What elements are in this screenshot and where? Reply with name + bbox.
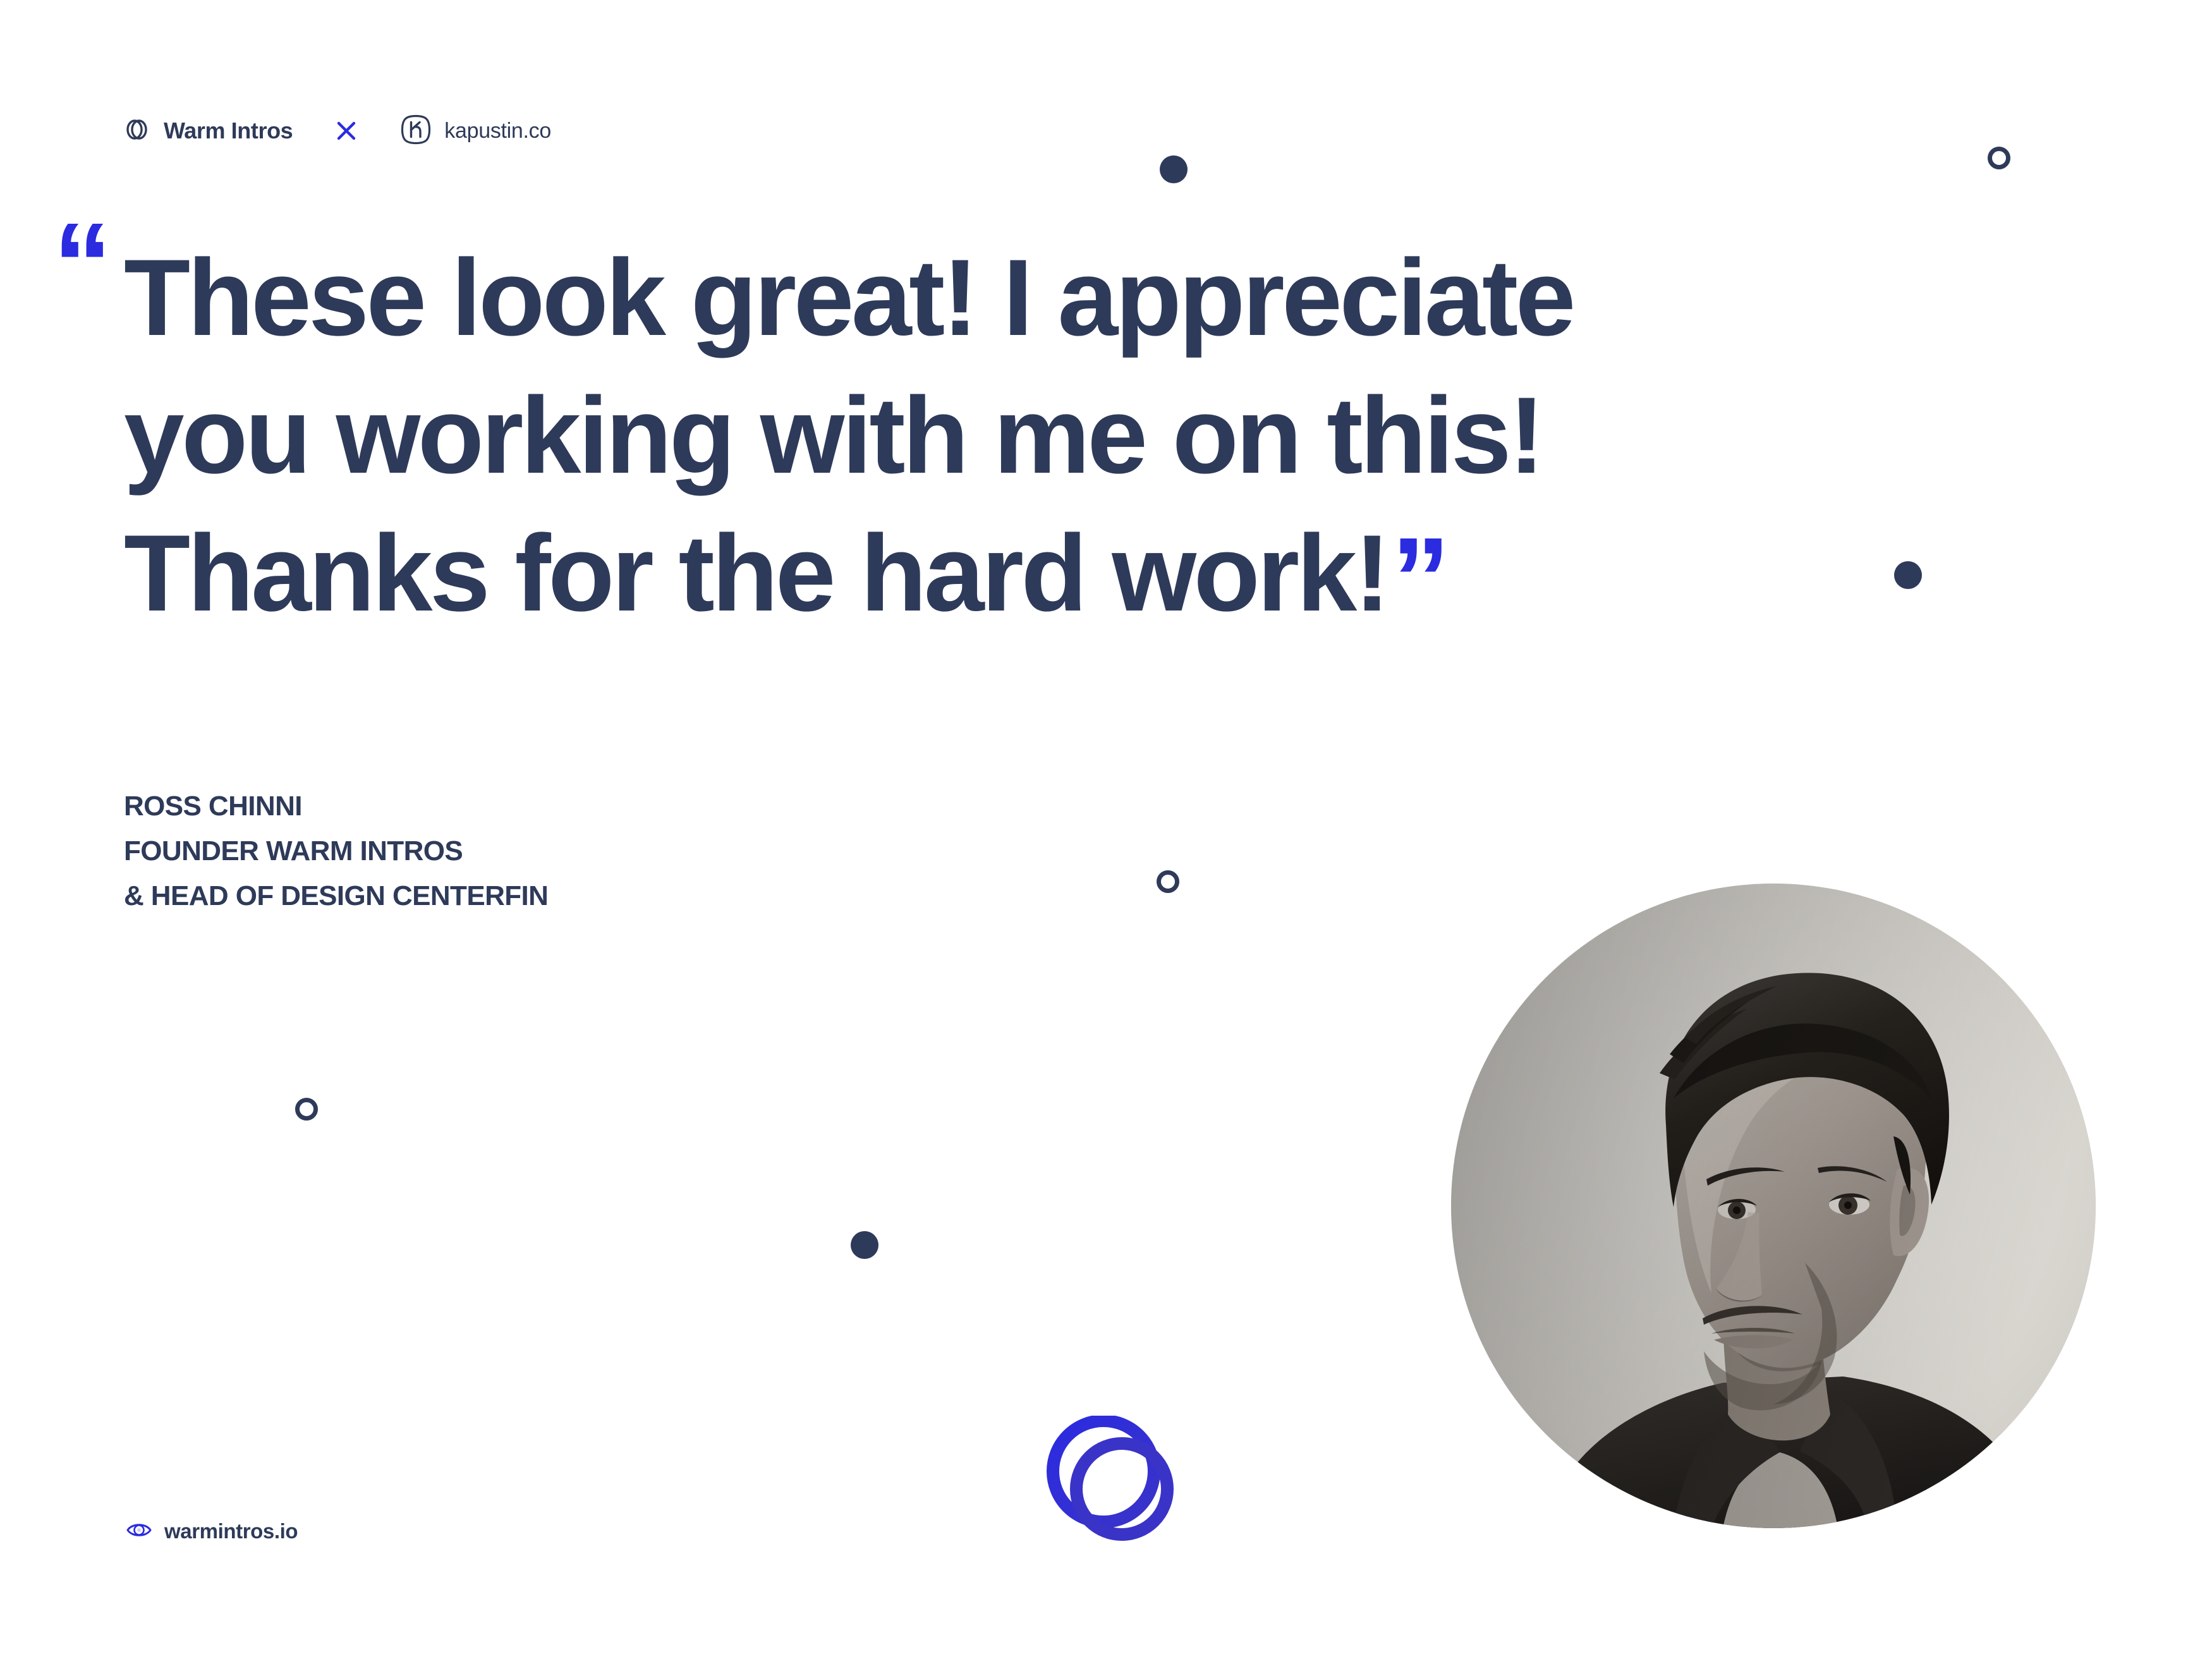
attribution-role-secondary: & HEAD OF DESIGN CENTERFIN [124, 873, 548, 918]
brand-separator-x-icon [336, 120, 357, 142]
quote-attribution: ROSS CHINNI FOUNDER WARM INTROS & HEAD O… [124, 784, 548, 918]
brand-kapustin[interactable]: kapustin.co [400, 114, 551, 149]
testimonial-quote: “These look great! I appreciate you work… [124, 229, 1957, 642]
warm-intros-rings-large-icon [1047, 1416, 1179, 1545]
ross-chinni-portrait [1451, 884, 2096, 1528]
kapustin-k-squircle-icon [400, 114, 432, 149]
slide-canvas: Warm Intros kapustin.co “These look grea… [0, 0, 2212, 1659]
quote-open-mark: “ [53, 206, 109, 324]
quote-line-2: you working with me on this! [124, 367, 1957, 504]
warm-intros-rings-icon [124, 116, 152, 147]
brand-warm-intros[interactable]: Warm Intros [124, 116, 293, 147]
attribution-name: ROSS CHINNI [124, 784, 548, 829]
warm-intros-eye-icon [126, 1520, 152, 1543]
decorative-dot-ring [1157, 870, 1179, 893]
quote-line-1-text: These look great! I appreciate [124, 237, 1573, 358]
decorative-dot [1160, 155, 1188, 183]
quote-line-3-text: Thanks for the hard work! [124, 513, 1388, 634]
quote-line-2-text: you working with me on this! [124, 375, 1542, 496]
attribution-role: FOUNDER WARM INTROS [124, 829, 548, 873]
quote-line-1: “These look great! I appreciate [124, 229, 1957, 367]
partner-name-label: kapustin.co [444, 119, 551, 143]
quote-line-3: Thanks for the hard work!” [124, 504, 1957, 642]
decorative-dot-ring [1988, 147, 2010, 169]
footer-site-label: warmintros.io [164, 1519, 298, 1543]
header-brand-bar: Warm Intros kapustin.co [124, 112, 551, 149]
brand-name-label: Warm Intros [164, 118, 293, 144]
decorative-dot [1894, 561, 1922, 589]
decorative-dot-ring [295, 1098, 318, 1121]
footer-site-link[interactable]: warmintros.io [126, 1519, 298, 1543]
decorative-dot [851, 1231, 878, 1259]
